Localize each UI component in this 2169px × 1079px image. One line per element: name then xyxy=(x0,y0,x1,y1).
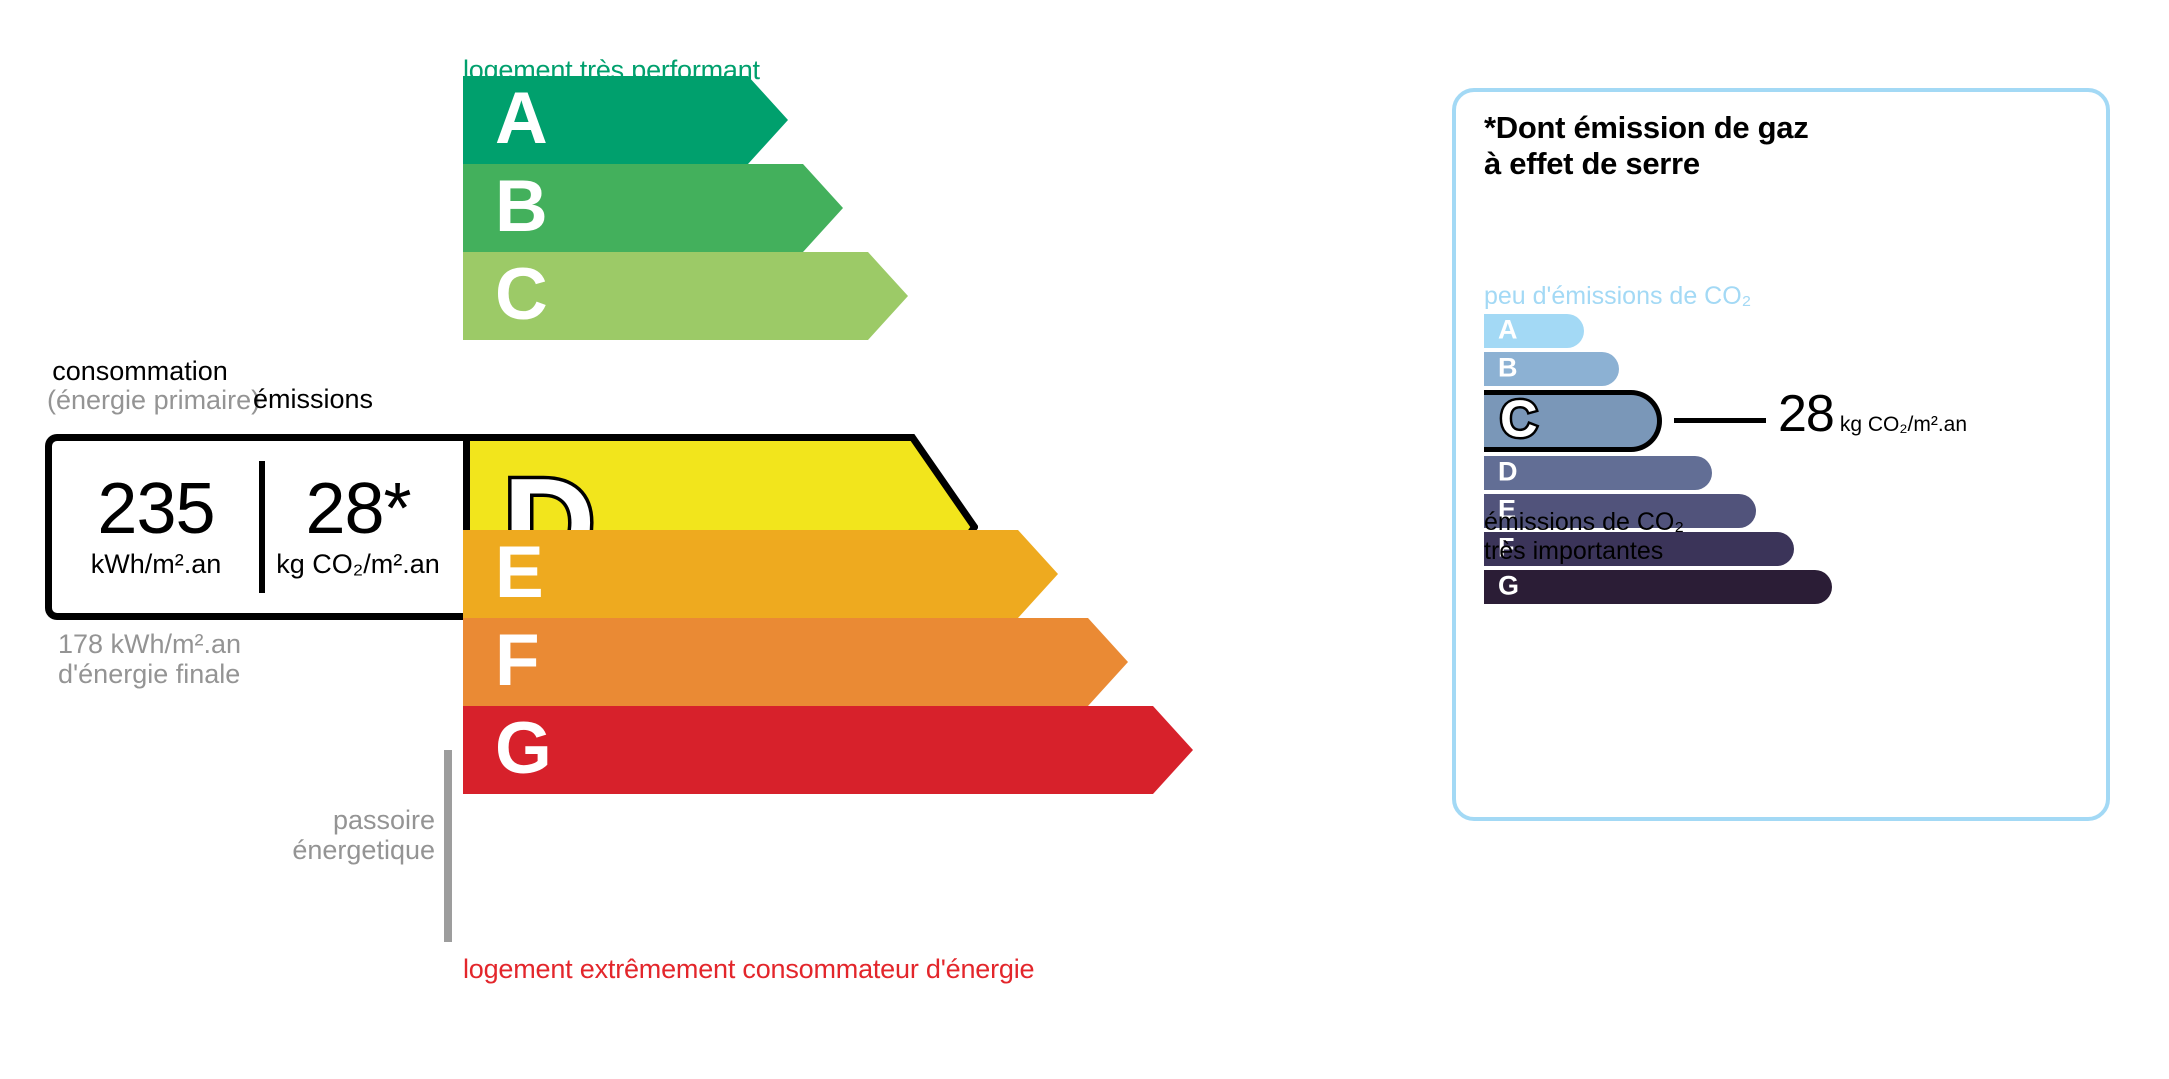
energy-class-letter-e: E xyxy=(495,536,544,609)
consumption-label-main: consommation xyxy=(52,356,228,386)
energy-class-arrow-g: G xyxy=(463,706,1193,794)
scale-bottom-caption: logement extrêmement consommateur d'éner… xyxy=(463,954,1034,985)
ghg-top-caption: peu d'émissions de CO₂ xyxy=(1484,282,1751,311)
final-energy-note: 178 kWh/m².an d'énergie finale xyxy=(58,629,241,689)
energy-class-letter-g: G xyxy=(495,712,552,785)
ghg-value: 28kg CO₂/m².an xyxy=(1778,388,1967,440)
passoire-label-line2: énergetique xyxy=(180,835,435,865)
final-energy-text: d'énergie finale xyxy=(58,659,241,689)
energy-class-letter-a: A xyxy=(495,82,548,155)
ghg-class-letter-d: D xyxy=(1498,459,1518,486)
passoire-label: passoire énergetique xyxy=(180,805,435,865)
arrow-shape-g xyxy=(463,706,1193,794)
ghg-class-letter-b: B xyxy=(1498,355,1518,382)
ghg-emissions-panel: *Dont émission de gaz à effet de serre p… xyxy=(1452,88,2110,821)
ghg-class-row-b: B xyxy=(1484,352,2084,386)
arrow-shape-f xyxy=(463,618,1128,706)
energy-class-letter-b: B xyxy=(495,170,548,243)
ghg-class-row-c: C28kg CO₂/m².an xyxy=(1484,390,2084,452)
value-box: 235 kWh/m².an 28* kg CO₂/m².an xyxy=(45,434,463,620)
arrow-shape-e xyxy=(463,530,1058,618)
consumption-label-sub: (énergie primaire) xyxy=(47,386,233,415)
ghg-class-bar-d xyxy=(1484,456,1712,490)
final-energy-value: 178 kWh/m².an xyxy=(58,629,241,659)
energy-class-letter-f: F xyxy=(495,624,540,697)
ghg-value-leader-line xyxy=(1674,418,1766,423)
emissions-label: émissions xyxy=(253,384,373,415)
consumption-value-cell: 235 kWh/m².an xyxy=(52,441,260,613)
ghg-panel-title-line1: *Dont émission de gaz xyxy=(1484,110,1808,146)
energy-class-arrow-c: C xyxy=(463,252,908,340)
consumption-label: consommation (énergie primaire) xyxy=(47,357,233,415)
ghg-class-row-d: D xyxy=(1484,456,2084,490)
ghg-panel-title-line2: à effet de serre xyxy=(1484,146,1808,182)
passoire-bracket xyxy=(444,750,452,942)
energy-class-arrow-e: E xyxy=(463,530,1058,618)
consumption-value: 235 xyxy=(97,474,214,545)
ghg-class-row-g: G xyxy=(1484,570,2084,604)
ghg-class-letter-g: G xyxy=(1498,573,1519,600)
ghg-bottom-caption: émissions de CO₂ très importantes xyxy=(1484,508,1684,565)
ghg-value-unit: kg CO₂/m².an xyxy=(1840,413,1967,436)
emissions-unit: kg CO₂/m².an xyxy=(276,549,440,580)
emissions-value: 28* xyxy=(305,474,410,545)
emissions-value-cell: 28* kg CO₂/m².an xyxy=(260,441,456,613)
ghg-class-letter-a: A xyxy=(1498,317,1518,344)
ghg-bottom-caption-line2: très importantes xyxy=(1484,537,1684,566)
energy-class-arrow-f: F xyxy=(463,618,1128,706)
energy-class-arrow-a: A xyxy=(463,76,788,164)
ghg-panel-title: *Dont émission de gaz à effet de serre xyxy=(1484,110,1808,182)
ghg-class-row-a: A xyxy=(1484,314,2084,348)
ghg-class-bar-g xyxy=(1484,570,1832,604)
energy-performance-diagram: logement très performant ABCDEFG consomm… xyxy=(0,0,1400,1079)
consumption-unit: kWh/m².an xyxy=(91,549,222,580)
ghg-bottom-caption-line1: émissions de CO₂ xyxy=(1484,508,1684,537)
ghg-class-letter-c: C xyxy=(1500,393,1538,445)
passoire-label-line1: passoire xyxy=(180,805,435,835)
energy-class-letter-c: C xyxy=(495,258,548,331)
energy-class-arrow-b: B xyxy=(463,164,843,252)
